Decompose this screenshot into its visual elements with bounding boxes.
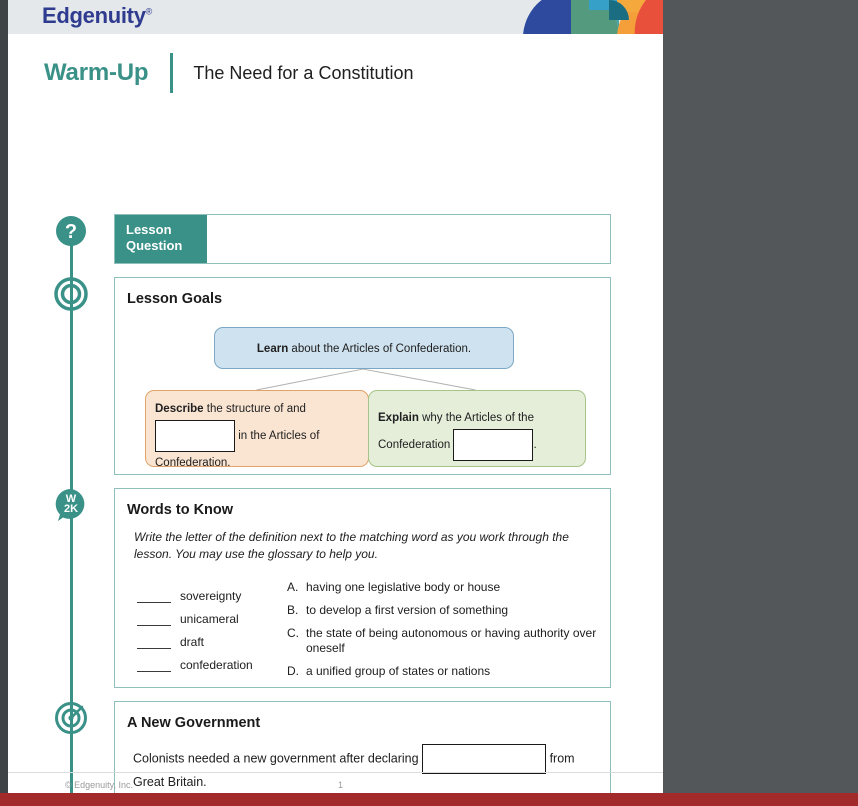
lesson-goals-title: Lesson Goals [127,291,610,307]
a-new-government-section: A New Government Colonists needed a new … [114,701,611,795]
worksheet-body: ? W 2K Lesson Question Lesson G [8,96,663,104]
goal-describe-bold: Describe [155,403,204,415]
words-to-know-section: Words to Know Write the letter of the de… [114,488,611,688]
vocabulary-answer-blank[interactable] [137,658,171,672]
page-footer: © Edgenuity, Inc. 1 [8,772,663,780]
left-gutter [0,0,8,806]
goal-explain-blank-input[interactable] [453,429,533,461]
svg-text:2K: 2K [64,503,78,515]
goal-describe-text-3: Confederation. [155,457,230,469]
bottom-accent-bar [0,793,858,806]
definition-letter: C. [287,626,306,656]
words-to-know-instructions: Write the letter of the definition next … [134,529,590,563]
goal-describe-box: Describe the structure of and in the Art… [145,390,369,467]
vocabulary-answer-blank[interactable] [137,589,171,603]
goal-describe-text-1: the structure of and [204,403,306,415]
definition-row: C. the state of being autonomous or havi… [287,626,610,656]
edgenuity-swoosh-logo-icon [513,0,663,34]
page-title: Warm-Up The Need for a Constitution [8,50,663,96]
footer-page-number: 1 [338,780,343,790]
a-new-government-paragraph: Colonists needed a new government after … [133,744,596,790]
vocabulary-term-label: sovereignty [180,589,241,603]
vocabulary-term-label: confederation [180,658,253,672]
goal-explain-text-3: . [533,439,536,451]
vocabulary-answer-blank[interactable] [137,635,171,649]
definition-row: B. to develop a first version of somethi… [287,603,610,618]
definition-letter: A. [287,580,306,595]
lesson-title-label: The Need for a Constitution [193,63,413,84]
brand-name: Edgenuity [42,3,146,28]
lesson-question-section: Lesson Question [114,214,611,264]
definition-text: a unified group of states or nations [306,664,490,679]
lesson-question-answer-field[interactable] [207,215,610,263]
activity-type-label: Warm-Up [44,59,148,87]
edgenuity-logo: Edgenuity® [42,3,152,29]
definition-text: to develop a first version of something [306,603,508,618]
words-to-know-matching-grid: sovereignty unicameral draft confederati… [137,580,610,687]
definition-list: A. having one legislative body or house … [287,580,610,687]
goal-describe-blank-input[interactable] [155,420,235,452]
footer-copyright: © Edgenuity, Inc. [65,780,133,790]
gov-paragraph-text-1: Colonists needed a new government after … [133,751,419,765]
lesson-question-tag: Lesson Question [115,215,207,263]
goal-explain-bold: Explain [378,412,419,424]
gov-paragraph-blank-input[interactable] [422,744,546,774]
lesson-goals-section: Lesson Goals Learn about the Articles of… [114,277,611,475]
lesson-question-tag-line1: Lesson [126,222,207,238]
goal-explain-text-1: why the Articles of the [419,412,534,424]
target-arrow-icon [53,700,89,736]
vocabulary-term-row: sovereignty [137,580,287,603]
vocabulary-term-label: draft [180,635,204,649]
definition-row: D. a unified group of states or nations [287,664,610,679]
vocabulary-answer-blank[interactable] [137,612,171,626]
goal-learn-box: Learn about the Articles of Confederatio… [214,327,514,369]
lesson-goals-diagram: Learn about the Articles of Confederatio… [115,311,610,461]
definition-text: having one legislative body or house [306,580,500,595]
trademark-mark: ® [146,7,152,17]
title-divider [170,53,173,93]
definition-letter: B. [287,603,306,618]
lesson-question-tag-line2: Question [126,238,207,254]
vocabulary-term-row: confederation [137,649,287,672]
w2k-speech-bubble-icon: W 2K [53,486,89,522]
definition-text: the state of being autonomous or having … [306,626,610,656]
definition-row: A. having one legislative body or house [287,580,610,595]
goal-describe-text-2: in the Articles of [238,430,319,442]
goal-explain-text-2: Confederation [378,439,450,451]
vocabulary-term-label: unicameral [180,612,239,626]
question-mark-icon: ? [53,213,89,249]
definition-letter: D. [287,664,306,679]
vocabulary-term-row: unicameral [137,603,287,626]
vocabulary-term-row: draft [137,626,287,649]
goal-explain-box: Explain why the Articles of the Confeder… [368,390,586,467]
goal-learn-bold: Learn [257,343,288,355]
goal-learn-text: about the Articles of Confederation. [288,343,471,355]
svg-text:?: ? [65,221,77,243]
worksheet-page: Edgenuity® Warm-Up The Need for a Consti… [8,0,663,795]
words-to-know-title: Words to Know [127,502,610,518]
a-new-government-title: A New Government [127,715,610,731]
vocabulary-term-list: sovereignty unicameral draft confederati… [137,580,287,687]
target-ring-icon [53,276,89,312]
brand-header: Edgenuity® [8,0,663,34]
